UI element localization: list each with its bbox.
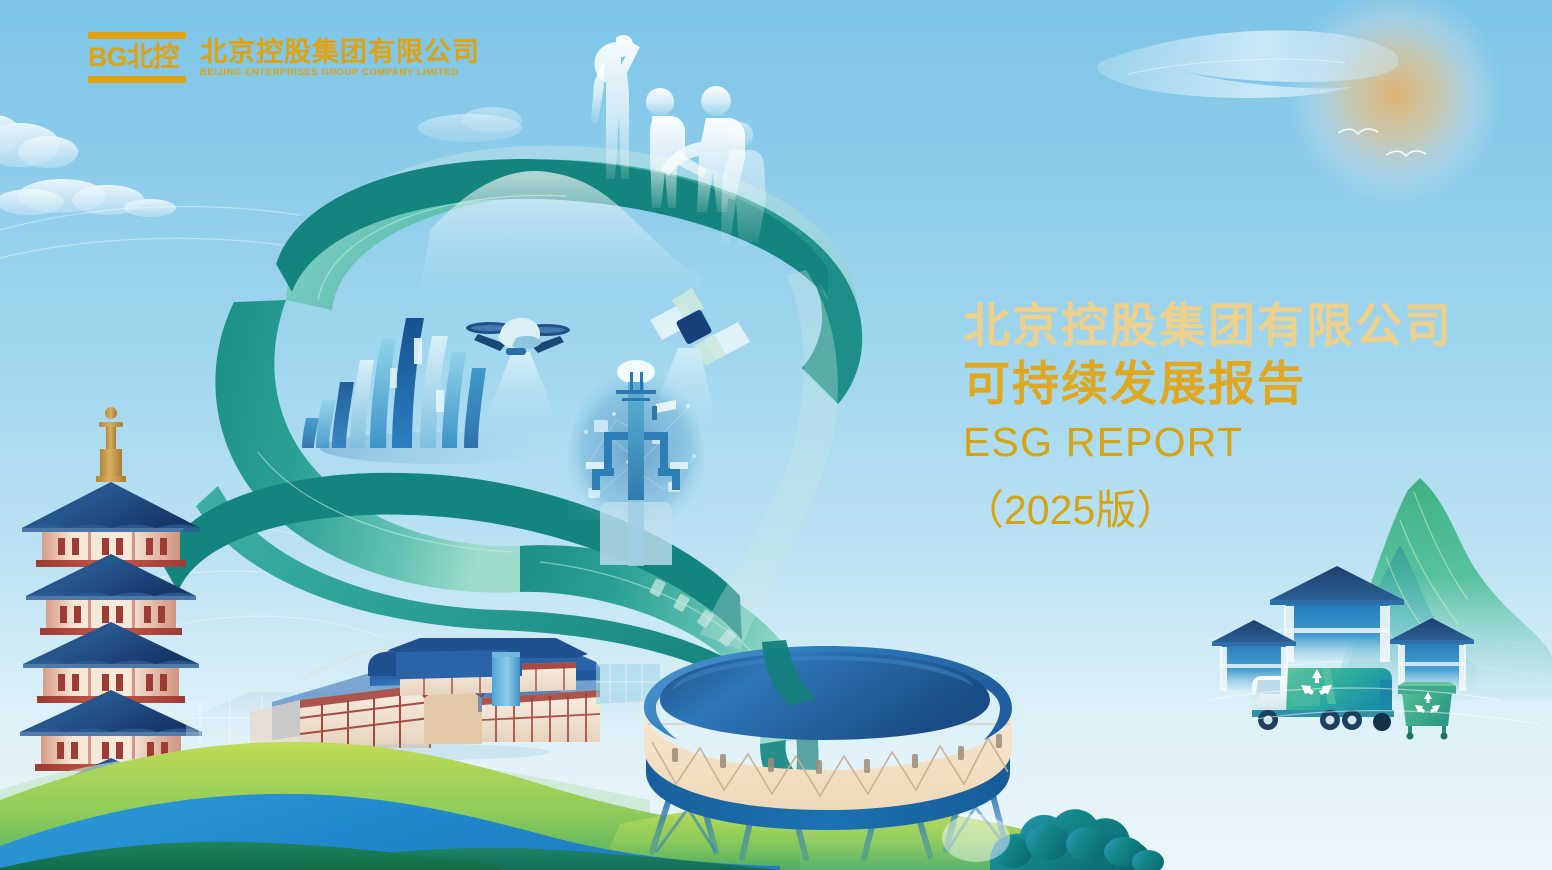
plant-roof-left bbox=[1212, 620, 1296, 642]
report-title-block: 北京控股集团有限公司 可持续发展报告 ESG REPORT （2025版） bbox=[963, 296, 1483, 536]
logo-bar-top bbox=[88, 32, 186, 39]
title-line-1: 北京控股集团有限公司 bbox=[963, 296, 1483, 356]
recycling-garbage-truck bbox=[1250, 668, 1394, 731]
plant-roof-right bbox=[1390, 618, 1474, 640]
logo-company-cn: 北京控股集团有限公司 bbox=[200, 38, 480, 66]
plant-roof-center bbox=[1270, 566, 1404, 600]
title-line-2: 可持续发展报告 bbox=[963, 354, 1483, 414]
logo-company-en: BEIJING ENTERPRISES GROUP COMPANY LIMITE… bbox=[200, 68, 480, 78]
logo-bar-bottom bbox=[88, 76, 186, 83]
title-english: ESG REPORT bbox=[963, 419, 1483, 466]
title-edition: （2025版） bbox=[963, 476, 1483, 536]
logo-text-block: 北京控股集团有限公司 BEIJING ENTERPRISES GROUP COM… bbox=[200, 38, 480, 78]
logo-mark-text: BG北控 bbox=[88, 43, 186, 72]
logo-mark: BG北控 bbox=[88, 32, 186, 83]
company-logo: BG北控 北京控股集团有限公司 BEIJING ENTERPRISES GROU… bbox=[88, 32, 480, 83]
report-cover: BG北控 北京控股集团有限公司 BEIJING ENTERPRISES GROU… bbox=[0, 0, 1552, 870]
